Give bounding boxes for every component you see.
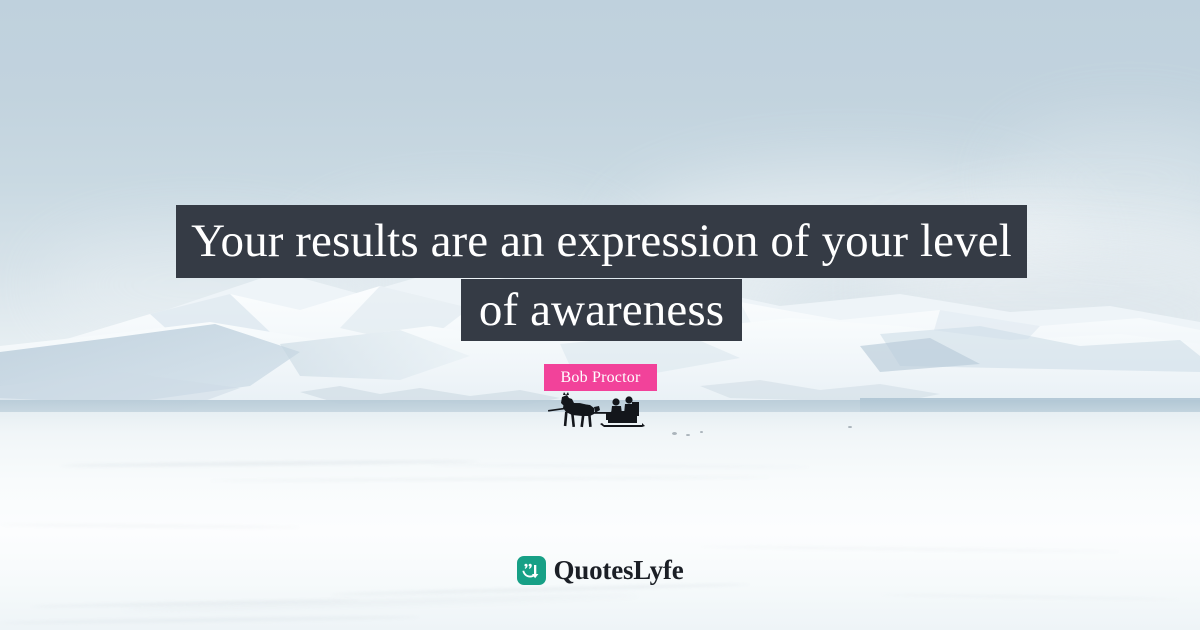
brand-logo[interactable]: QuotesLyfe bbox=[0, 556, 1200, 585]
quote-marks-icon bbox=[517, 556, 546, 585]
quote-block: Your results are an expression of your l… bbox=[0, 0, 1200, 630]
brand-name: QuotesLyfe bbox=[554, 557, 684, 584]
author-badge: Bob Proctor bbox=[544, 364, 657, 391]
quote-line-2: of awareness bbox=[461, 279, 742, 341]
quote-line-1: Your results are an expression of your l… bbox=[176, 205, 1027, 278]
quote-card: Your results are an expression of your l… bbox=[0, 0, 1200, 630]
